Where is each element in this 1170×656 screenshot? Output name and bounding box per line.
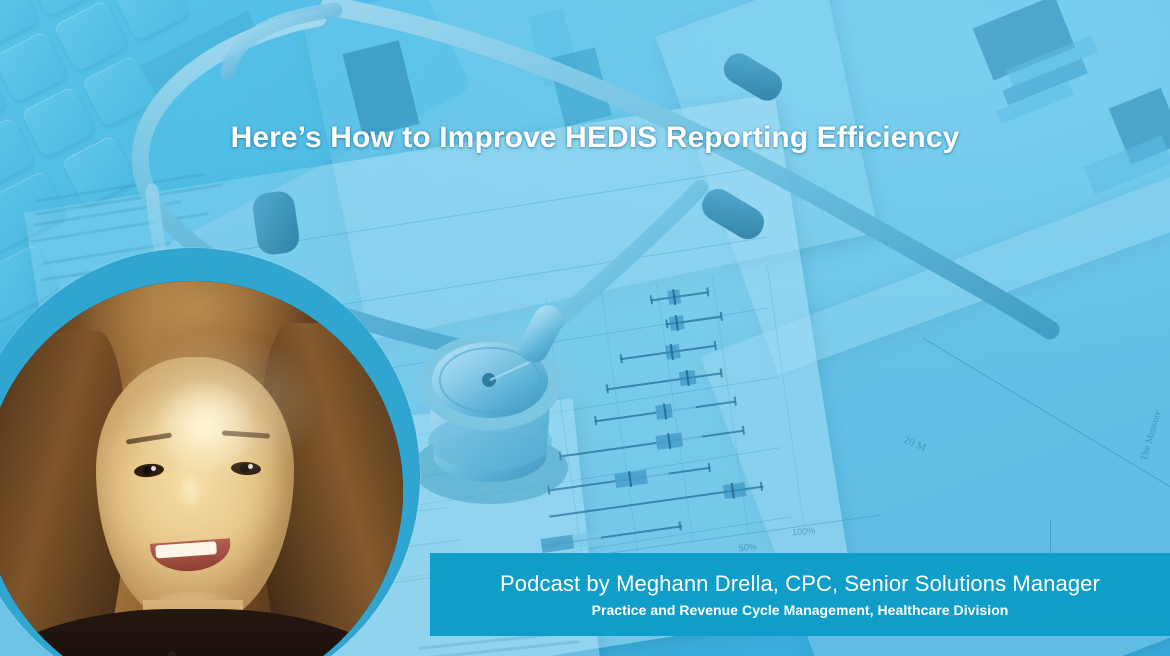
podcast-presenter: Podcast by Meghann Drella, CPC, Senior S… xyxy=(500,571,1100,596)
axis-tick-label: 50% xyxy=(738,542,757,554)
page-title: Here’s How to Improve HEDIS Reporting Ef… xyxy=(0,121,1170,155)
podcast-cover: 50% 100% 20 M The Measure xyxy=(0,0,1170,656)
photo-highlight xyxy=(0,281,403,656)
podcast-department: Practice and Revenue Cycle Management, H… xyxy=(592,602,1009,618)
avatar xyxy=(0,248,420,656)
avatar-photo xyxy=(0,281,403,656)
axis-tick-label: 100% xyxy=(792,525,816,537)
credits-banner: Podcast by Meghann Drella, CPC, Senior S… xyxy=(430,553,1170,636)
box-plot-chart: 50% 100% xyxy=(527,257,882,574)
